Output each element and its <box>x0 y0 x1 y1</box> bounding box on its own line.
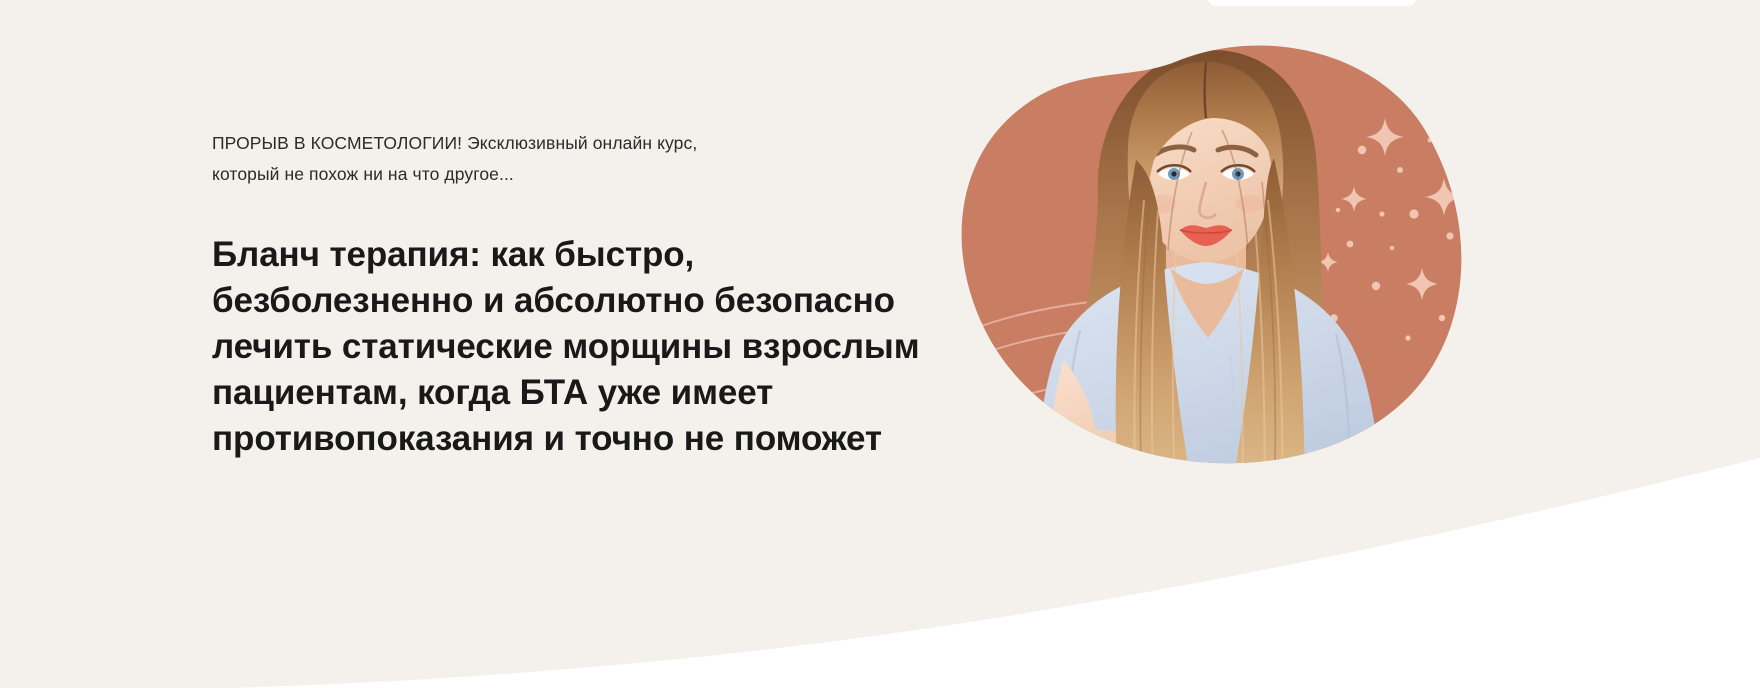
page-title: Бланч терапия: как быстро, безболезненно… <box>212 232 892 462</box>
wristwatch <box>1082 463 1126 490</box>
headline-line-3: лечить статические морщины взрослым <box>212 324 892 370</box>
hero-text-column: ПРОРЫВ В КОСМЕТОЛОГИИ! Эксклюзивный онла… <box>212 128 912 462</box>
woman-cosmetologist-portrait <box>930 0 1490 520</box>
hero-visual <box>930 0 1490 520</box>
headline-line-4: пациентам, когда БТА уже имеет <box>212 370 892 416</box>
hero-eyebrow-line-1: ПРОРЫВ В КОСМЕТОЛОГИИ! Эксклюзивный онла… <box>212 133 697 153</box>
headline-line-1: Бланч терапия: как быстро, <box>212 232 892 278</box>
hero-eyebrow-line-2: который не похож ни на что другое... <box>212 159 792 190</box>
headline-line-2: безболезненно и абсолютно безопасно <box>212 278 892 324</box>
hero-section: ПРОРЫВ В КОСМЕТОЛОГИИ! Эксклюзивный онла… <box>0 0 1760 688</box>
scrub-top <box>1034 262 1382 520</box>
hero-eyebrow: ПРОРЫВ В КОСМЕТОЛОГИИ! Эксклюзивный онла… <box>212 128 792 190</box>
headline-line-5: противопоказания и точно не поможет <box>212 416 892 462</box>
